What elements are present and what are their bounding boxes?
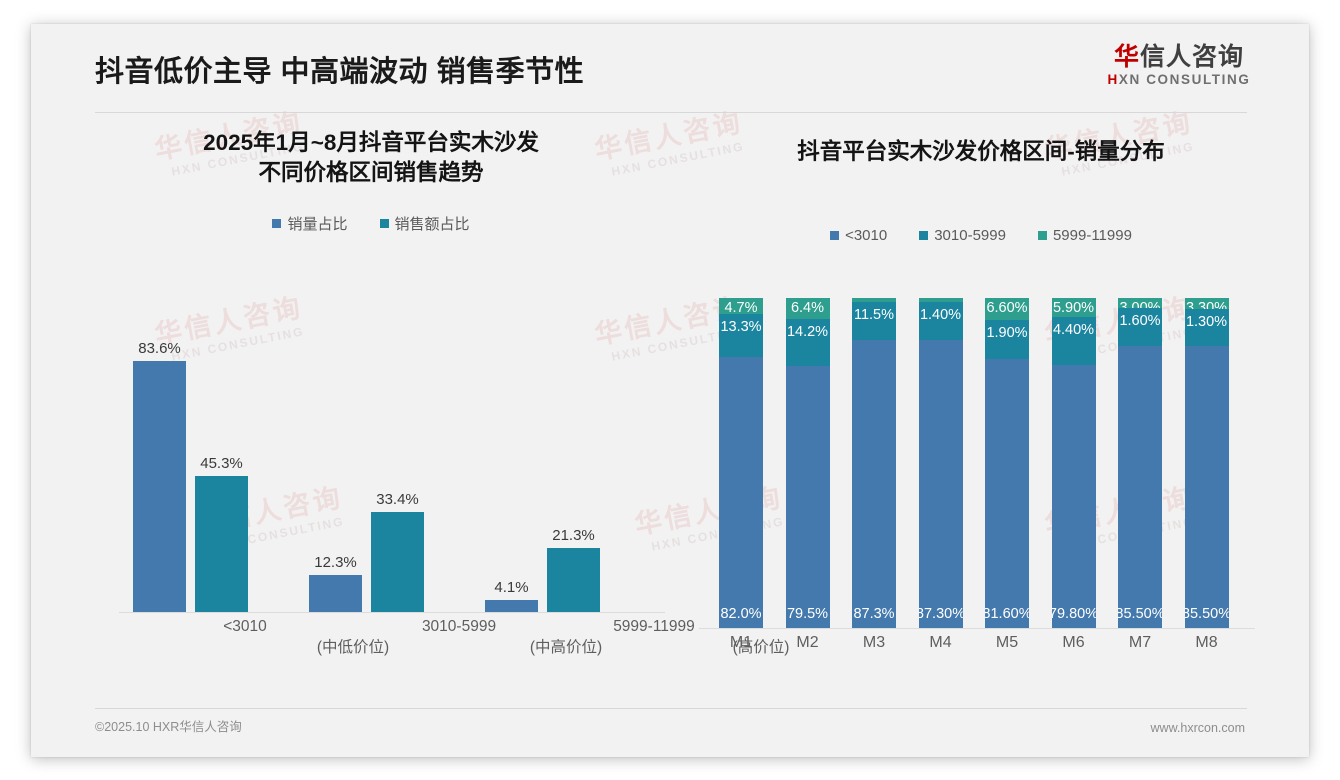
x-axis-label: (中低价位) (293, 637, 413, 659)
bar-group: 12.3%33.4% (309, 342, 459, 612)
stacked-bar-segment[interactable]: 1.40% (919, 302, 963, 340)
right-chart-panel: 抖音平台实木沙发价格区间-销量分布 <3010 3010-5999 5999-1… (691, 128, 1271, 688)
segment-value-label: 6.60% (986, 300, 1027, 316)
logo-english-rest: XN CONSULTING (1119, 72, 1251, 87)
bar-rect (195, 476, 248, 612)
bar[interactable]: 21.3% (547, 548, 600, 612)
bar[interactable]: 4.1% (485, 600, 538, 612)
left-grouped-bar-chart: 83.6%45.3%12.3%33.4%4.1%21.3% <3010(中低价位… (71, 342, 671, 642)
stacked-bar-segment[interactable]: 4.40% (1052, 317, 1096, 364)
stacked-bar-segment[interactable]: 13.3% (719, 314, 763, 358)
segment-value-label: 1.40% (920, 307, 961, 323)
stacked-bar-segment[interactable]: 87.30% (919, 340, 963, 628)
slide: 华信人咨询 HXN CONSULTING 华信人咨询 HXN CONSULTIN… (31, 24, 1309, 757)
stacked-bar-segment[interactable]: 3.00% (1118, 298, 1162, 308)
left-chart-title: 2025年1月~8月抖音平台实木沙发 不同价格区间销售趋势 (71, 128, 671, 187)
bar-rect (547, 548, 600, 612)
stacked-bar[interactable]: 1.30%1.40%87.30% (919, 298, 963, 628)
legend-swatch-icon (380, 219, 389, 228)
bar-group: 4.1%21.3% (485, 342, 635, 612)
legend-item-sales-volume[interactable]: 销量占比 (272, 213, 347, 234)
x-axis-label: <3010 (185, 616, 305, 638)
stacked-bar[interactable]: 6.4%14.2%79.5% (786, 298, 830, 628)
stacked-bar-segment[interactable]: 4.7% (719, 298, 763, 314)
segment-value-label: 87.30% (919, 606, 963, 622)
legend-swatch-icon (1038, 231, 1047, 240)
left-chart-axis-line (119, 612, 665, 613)
bar[interactable]: 83.6% (133, 361, 186, 612)
left-chart-title-line2: 不同价格区间销售趋势 (81, 158, 661, 188)
stacked-bar-segment[interactable]: 14.2% (786, 319, 830, 366)
bar[interactable]: 12.3% (309, 575, 362, 612)
segment-value-label: 5.90% (1053, 300, 1094, 316)
left-chart-plot-area: 83.6%45.3%12.3%33.4%4.1%21.3% (121, 342, 661, 612)
bar-rect (485, 600, 538, 612)
legend-item-sales-value[interactable]: 销售额占比 (380, 213, 470, 234)
stacked-bar-segment[interactable]: 1.90% (985, 320, 1029, 359)
segment-value-label: 3.00% (1119, 300, 1160, 308)
right-chart-x-axis-labels: M1M2M3M4M5M6M7M8 (691, 634, 1271, 664)
legend-swatch-icon (919, 231, 928, 240)
legend-item-high-price[interactable]: 5999-11999 (1038, 227, 1132, 244)
x-axis-label: M7 (1118, 634, 1162, 652)
legend-label: 销量占比 (287, 213, 347, 234)
bar-value-label: 4.1% (494, 579, 528, 596)
stacked-bar-segment[interactable]: 82.0% (719, 357, 763, 628)
right-chart-axis-line (699, 628, 1255, 629)
left-chart-title-line1: 2025年1月~8月抖音平台实木沙发 (81, 128, 661, 158)
stacked-bar-segment[interactable]: 79.5% (786, 366, 830, 628)
segment-value-label: 3.30% (1186, 300, 1227, 309)
stacked-bar-segment[interactable]: 1.60% (1118, 308, 1162, 346)
x-axis-label: M8 (1185, 634, 1229, 652)
segment-value-label: 4.40% (1053, 322, 1094, 338)
segment-value-label: 85.50% (1118, 606, 1162, 622)
x-axis-label: 3010-5999 (399, 616, 519, 638)
legend-swatch-icon (830, 231, 839, 240)
segment-value-label: 81.60% (985, 606, 1029, 622)
x-axis-label: (中高价位) (506, 637, 626, 659)
bar-value-label: 83.6% (138, 340, 181, 357)
segment-value-label: 1.30% (1186, 314, 1227, 330)
stacked-bar-segment[interactable]: 3.30% (1185, 298, 1229, 309)
bar-rect (309, 575, 362, 612)
stacked-bar-segment[interactable]: 6.60% (985, 298, 1029, 320)
legend-item-mid-price[interactable]: 3010-5999 (919, 227, 1006, 244)
left-chart-panel: 2025年1月~8月抖音平台实木沙发 不同价格区间销售趋势 销量占比 销售额占比… (71, 128, 671, 688)
bar-rect (133, 361, 186, 612)
slide-header: 抖音低价主导 中高端波动 销售季节性 华信人咨询 HXN CONSULTING (31, 24, 1309, 116)
footer-divider (95, 708, 1247, 709)
segment-value-label: 82.0% (720, 606, 761, 622)
segment-value-label: 1.90% (986, 325, 1027, 341)
bar[interactable]: 45.3% (195, 476, 248, 612)
logo-chinese-rest: 信人咨询 (1140, 43, 1244, 71)
stacked-bar[interactable]: 4.7%13.3%82.0% (719, 298, 763, 628)
bar-value-label: 33.4% (376, 491, 419, 508)
left-chart-legend: 销量占比 销售额占比 (71, 213, 671, 234)
bar-value-label: 21.3% (552, 527, 595, 544)
legend-label: <3010 (845, 227, 887, 244)
x-axis-label: M5 (985, 634, 1029, 652)
logo-chinese-first-char: 华 (1114, 43, 1140, 71)
header-divider (95, 112, 1247, 113)
stacked-bar[interactable]: 5.90%4.40%79.80% (1052, 298, 1096, 628)
stacked-bar-segment[interactable]: 5.90% (1052, 298, 1096, 317)
screenshot-stage: 华信人咨询 HXN CONSULTING 华信人咨询 HXN CONSULTIN… (0, 0, 1340, 780)
logo-english-first-char: H (1108, 72, 1119, 87)
segment-value-label: 11.5% (854, 307, 894, 323)
x-axis-label: M3 (852, 634, 896, 652)
bar-value-label: 12.3% (314, 554, 357, 571)
stacked-bar-segment[interactable]: 87.3% (852, 340, 896, 628)
stacked-bar-segment[interactable]: 85.50% (1185, 346, 1229, 628)
stacked-bar-segment[interactable]: 79.80% (1052, 365, 1096, 628)
logo-chinese: 华信人咨询 (1089, 44, 1269, 70)
stacked-bar-segment[interactable]: 1.30% (1185, 309, 1229, 346)
right-chart-legend: <3010 3010-5999 5999-11999 (691, 227, 1271, 244)
segment-value-label: 13.3% (720, 319, 761, 335)
company-logo: 华信人咨询 HXN CONSULTING (1089, 44, 1269, 87)
footer-copyright: ©2025.10 HXR华信人咨询 (95, 716, 242, 735)
legend-swatch-icon (272, 219, 281, 228)
stacked-bar-segment[interactable]: 85.50% (1118, 346, 1162, 628)
right-chart-plot-area: 4.7%13.3%82.0%6.4%14.2%79.5%1.2%11.5%87.… (701, 298, 1261, 628)
page-title: 抖音低价主导 中高端波动 销售季节性 (95, 48, 584, 90)
legend-label: 3010-5999 (934, 227, 1006, 244)
bar[interactable]: 33.4% (371, 512, 424, 612)
left-chart-x-axis-labels: <3010(中低价位)3010-5999(中高价位)5999-11999(高价位… (71, 616, 671, 676)
bar-group: 83.6%45.3% (133, 342, 283, 612)
stacked-bar[interactable]: 3.00%1.60%85.50% (1118, 298, 1162, 628)
segment-value-label: 85.50% (1185, 606, 1229, 622)
logo-english: HXN CONSULTING (1089, 72, 1269, 87)
stacked-bar[interactable]: 3.30%1.30%85.50% (1185, 298, 1229, 628)
bar-value-label: 45.3% (200, 455, 243, 472)
legend-label: 销售额占比 (395, 213, 470, 234)
segment-value-label: 4.7% (724, 300, 757, 314)
segment-value-label: 14.2% (787, 324, 828, 340)
stacked-bar-segment[interactable]: 81.60% (985, 359, 1029, 628)
x-axis-label: M1 (719, 634, 763, 652)
footer-website[interactable]: www.hxrcon.com (1151, 721, 1245, 735)
stacked-bar-segment[interactable]: 6.4% (786, 298, 830, 319)
x-axis-label: M2 (786, 634, 830, 652)
segment-value-label: 6.4% (791, 300, 824, 316)
bar-rect (371, 512, 424, 612)
right-stacked-bar-chart: 4.7%13.3%82.0%6.4%14.2%79.5%1.2%11.5%87.… (691, 298, 1271, 658)
legend-item-low-price[interactable]: <3010 (830, 227, 887, 244)
segment-value-label: 79.5% (787, 606, 828, 622)
segment-value-label: 87.3% (853, 606, 894, 622)
x-axis-label: M6 (1052, 634, 1096, 652)
legend-label: 5999-11999 (1053, 227, 1132, 244)
stacked-bar[interactable]: 6.60%1.90%81.60% (985, 298, 1029, 628)
right-chart-title: 抖音平台实木沙发价格区间-销量分布 (691, 128, 1271, 167)
stacked-bar[interactable]: 1.2%11.5%87.3% (852, 298, 896, 628)
x-axis-label: M4 (919, 634, 963, 652)
segment-value-label: 79.80% (1052, 606, 1096, 622)
segment-value-label: 1.60% (1119, 313, 1160, 329)
stacked-bar-segment[interactable]: 11.5% (852, 302, 896, 340)
